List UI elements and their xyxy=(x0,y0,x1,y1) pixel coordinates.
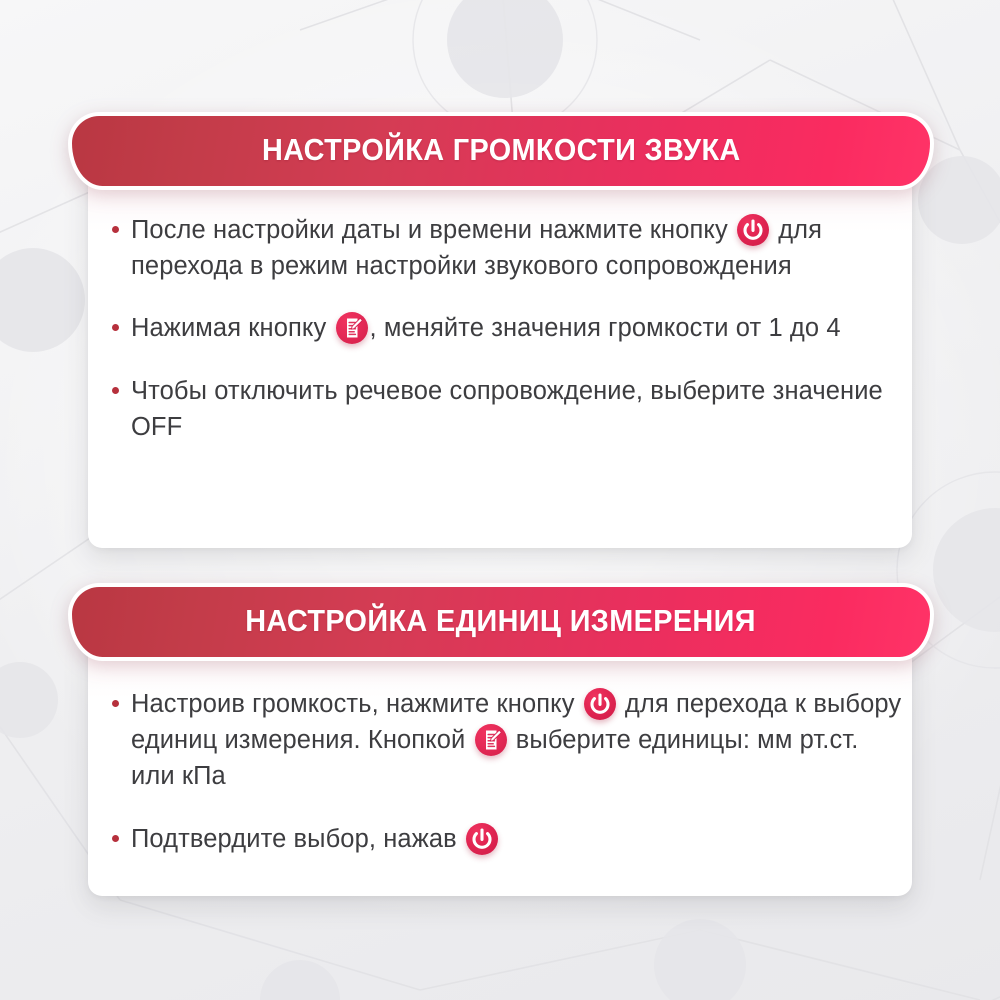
memory-note-icon[interactable] xyxy=(336,312,368,344)
power-button-icon[interactable] xyxy=(737,214,769,246)
memory-note-icon[interactable] xyxy=(475,724,507,756)
bullet-marker-icon xyxy=(112,387,119,394)
card-title-units: НАСТРОЙКА ЕДИНИЦ ИЗМЕРЕНИЯ xyxy=(246,605,757,640)
bullet-text: Настроив громкость, нажмите кнопку для п… xyxy=(131,686,902,795)
banner-sound-shape: НАСТРОЙКА ГРОМКОСТИ ЗВУКА xyxy=(68,112,934,190)
banner-unit-settings: НАСТРОЙКА ЕДИНИЦ ИЗМЕРЕНИЯ xyxy=(68,583,934,661)
bullet-text: Нажимая кнопку , меняйте значения громко… xyxy=(131,310,841,346)
bullet-list-sound: После настройки даты и времени нажмите к… xyxy=(112,212,902,445)
bullet-marker-icon xyxy=(112,324,119,331)
bullet-list-units: Настроив громкость, нажмите кнопку для п… xyxy=(112,686,902,857)
bullet-marker-icon xyxy=(112,700,119,707)
content-stack: НАСТРОЙКА ГРОМКОСТИ ЗВУКА После настройк… xyxy=(0,0,1000,1000)
list-item: Подтвердите выбор, нажав xyxy=(112,821,902,857)
bullet-marker-icon xyxy=(112,226,119,233)
bullet-text: Подтвердите выбор, нажав xyxy=(131,821,500,857)
list-item: Чтобы отключить речевое сопровождение, в… xyxy=(112,373,902,445)
power-button-icon[interactable] xyxy=(466,823,498,855)
list-item: Нажимая кнопку , меняйте значения громко… xyxy=(112,310,902,346)
bullet-text: Чтобы отключить речевое сопровождение, в… xyxy=(131,373,902,445)
bullet-text: После настройки даты и времени нажмите к… xyxy=(131,212,902,284)
banner-units-shape: НАСТРОЙКА ЕДИНИЦ ИЗМЕРЕНИЯ xyxy=(68,583,934,661)
banner-sound-settings: НАСТРОЙКА ГРОМКОСТИ ЗВУКА xyxy=(68,112,934,190)
power-button-icon[interactable] xyxy=(584,688,616,720)
bullet-marker-icon xyxy=(112,835,119,842)
list-item: После настройки даты и времени нажмите к… xyxy=(112,212,902,284)
list-item: Настроив громкость, нажмите кнопку для п… xyxy=(112,686,902,795)
card-title-sound: НАСТРОЙКА ГРОМКОСТИ ЗВУКА xyxy=(262,134,741,169)
